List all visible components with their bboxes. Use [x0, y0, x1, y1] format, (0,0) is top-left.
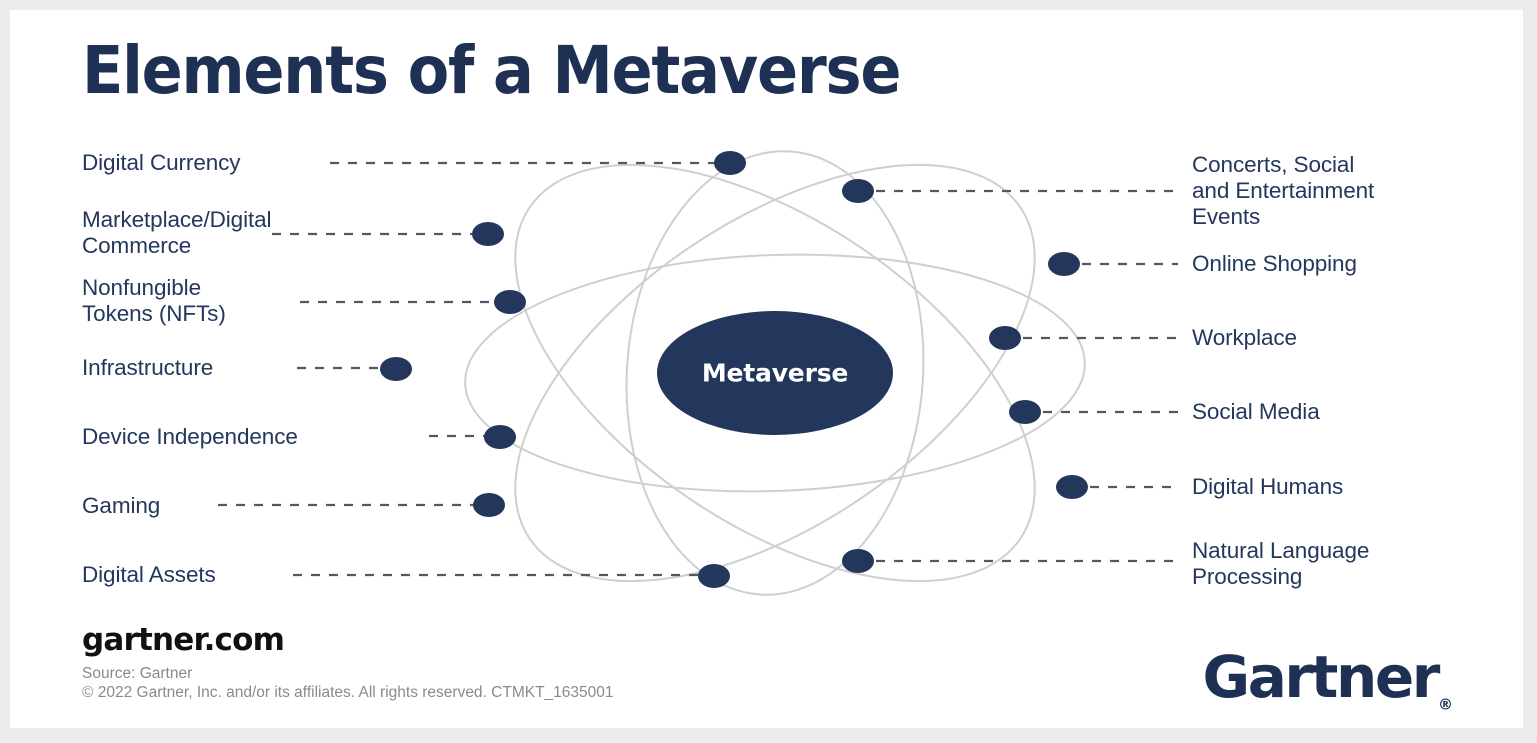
label-line: Digital Humans	[1192, 474, 1343, 500]
label-line: Nonfungible	[82, 275, 226, 301]
label-line: Marketplace/Digital	[82, 207, 271, 233]
copyright-line: © 2022 Gartner, Inc. and/or its affiliat…	[82, 684, 614, 703]
orbit-ring-4	[445, 81, 1106, 664]
label-workplace: Workplace	[1192, 325, 1297, 351]
orbit-ring-2	[461, 244, 1089, 501]
label-line: Gaming	[82, 493, 160, 519]
label-line: Digital Currency	[82, 150, 240, 176]
leader-lines-left	[218, 163, 715, 575]
orbit-dot-digital-humans	[1056, 475, 1088, 499]
gartner-logo-wordmark: Gartner	[1202, 643, 1438, 711]
label-line: Online Shopping	[1192, 251, 1357, 277]
orbit-dot-marketplace	[472, 222, 504, 246]
orbit-ring-3	[445, 81, 1106, 664]
label-natural-language-processing: Natural Language Processing	[1192, 538, 1369, 590]
label-line: Infrastructure	[82, 355, 213, 381]
label-digital-assets: Digital Assets	[82, 562, 216, 588]
label-line: Digital Assets	[82, 562, 216, 588]
orbit-rings	[445, 81, 1106, 664]
orbit-dot-social-media	[1009, 400, 1041, 424]
label-line: Device Independence	[82, 424, 298, 450]
orbit-dot-online-shopping	[1048, 252, 1080, 276]
page-title: Elements of a Metaverse	[82, 38, 900, 104]
gartner-site-url[interactable]: gartner.com	[82, 622, 284, 658]
center-node	[657, 311, 893, 435]
label-line: Processing	[1192, 564, 1369, 590]
label-digital-currency: Digital Currency	[82, 150, 240, 176]
gartner-logo: Gartner®	[1202, 648, 1453, 713]
label-line: Commerce	[82, 233, 271, 259]
label-gaming: Gaming	[82, 493, 160, 519]
orbit-dot-digital-assets	[698, 564, 730, 588]
orbit-dots	[380, 151, 1088, 588]
orbit-dot-nfts	[494, 290, 526, 314]
leader-lines-right	[858, 191, 1178, 561]
label-concerts-social-entertainment: Concerts, Social and Entertainment Event…	[1192, 152, 1374, 230]
page-frame: Elements of a Metaverse	[0, 0, 1537, 743]
label-line: Workplace	[1192, 325, 1297, 351]
label-digital-humans: Digital Humans	[1192, 474, 1343, 500]
label-line: Natural Language	[1192, 538, 1369, 564]
orbit-dot-gaming	[473, 493, 505, 517]
label-line: and Entertainment	[1192, 178, 1374, 204]
source-line: Source: Gartner	[82, 665, 614, 684]
center-node-label: Metaverse	[702, 359, 848, 388]
label-device-independence: Device Independence	[82, 424, 298, 450]
label-social-media: Social Media	[1192, 399, 1320, 425]
label-line: Social Media	[1192, 399, 1320, 425]
orbit-dot-device-independence	[484, 425, 516, 449]
label-line: Events	[1192, 204, 1374, 230]
orbit-dot-infrastructure	[380, 357, 412, 381]
orbit-dot-concerts	[842, 179, 874, 203]
infographic-card: Elements of a Metaverse	[10, 10, 1523, 728]
label-infrastructure: Infrastructure	[82, 355, 213, 381]
label-marketplace-digital-commerce: Marketplace/Digital Commerce	[82, 207, 271, 259]
orbit-ring-1	[612, 141, 938, 605]
label-line: Tokens (NFTs)	[82, 301, 226, 327]
registered-trademark-icon: ®	[1438, 696, 1453, 714]
label-online-shopping: Online Shopping	[1192, 251, 1357, 277]
metaverse-orbit-diagram: Metaverse	[10, 10, 1523, 728]
orbit-dot-digital-currency	[714, 151, 746, 175]
source-attribution: Source: Gartner © 2022 Gartner, Inc. and…	[82, 665, 614, 702]
orbit-dot-nlp	[842, 549, 874, 573]
orbit-dot-workplace	[989, 326, 1021, 350]
label-line: Concerts, Social	[1192, 152, 1374, 178]
label-nonfungible-tokens: Nonfungible Tokens (NFTs)	[82, 275, 226, 327]
